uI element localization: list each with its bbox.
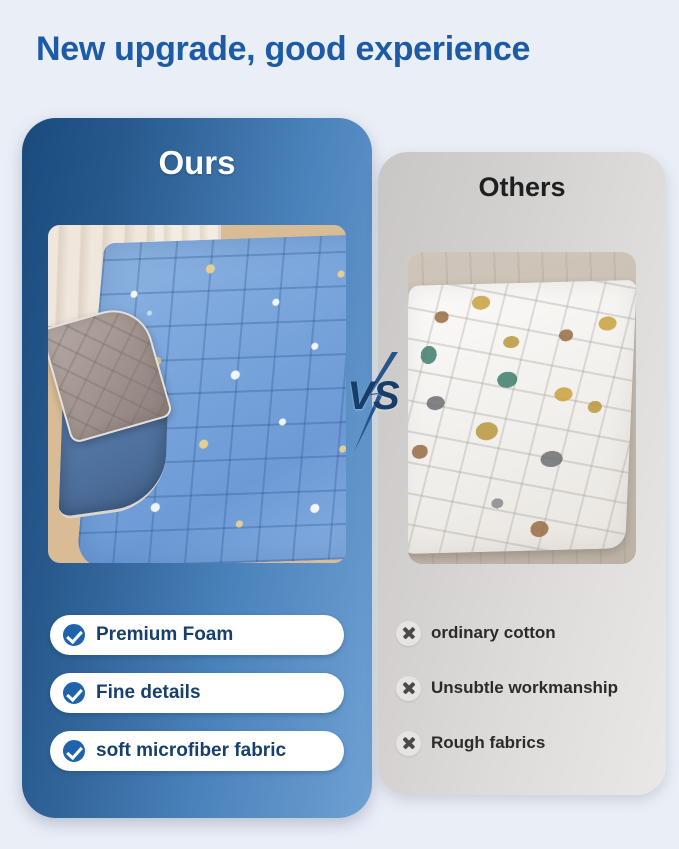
check-circle-icon <box>61 680 87 706</box>
feature-label: soft microfiber fabric <box>96 740 286 762</box>
drawback-label: Unsubtle workmanship <box>431 678 618 698</box>
feature-pill-fine-details[interactable]: Fine details <box>50 673 344 713</box>
drawback-label: Rough fabrics <box>431 733 545 753</box>
feature-label: Fine details <box>96 682 201 704</box>
vs-label: VS <box>336 374 410 419</box>
others-photo-scene <box>408 252 636 564</box>
feature-pill-premium-foam[interactable]: Premium Foam <box>50 615 344 655</box>
drawback-row-unsubtle-workmanship: Unsubtle workmanship <box>396 672 618 704</box>
x-circle-icon <box>396 676 421 701</box>
others-panel-title: Others <box>378 172 666 203</box>
check-circle-icon <box>61 738 87 764</box>
white-quilted-pad <box>408 280 636 555</box>
drawback-row-ordinary-cotton: ordinary cotton <box>396 617 556 649</box>
ours-product-photo <box>48 225 346 563</box>
feature-label: Premium Foam <box>96 624 233 646</box>
check-circle-icon <box>61 622 87 648</box>
ours-panel: Ours Premium Foam Fine details soft micr… <box>22 118 372 818</box>
animal-tree-pattern <box>408 280 636 555</box>
x-circle-icon <box>396 621 421 646</box>
ours-panel-title: Ours <box>22 144 372 182</box>
drawback-label: ordinary cotton <box>431 623 556 643</box>
others-panel: Others ordinary cotton Unsubtle workmans… <box>378 152 666 795</box>
x-circle-icon <box>396 731 421 756</box>
others-product-photo <box>408 252 636 564</box>
feature-pill-soft-microfiber-fabric[interactable]: soft microfiber fabric <box>50 731 344 771</box>
ours-photo-scene <box>48 225 346 563</box>
page-title: New upgrade, good experience <box>36 30 530 69</box>
drawback-row-rough-fabrics: Rough fabrics <box>396 727 545 759</box>
vs-badge: VS <box>336 352 410 452</box>
